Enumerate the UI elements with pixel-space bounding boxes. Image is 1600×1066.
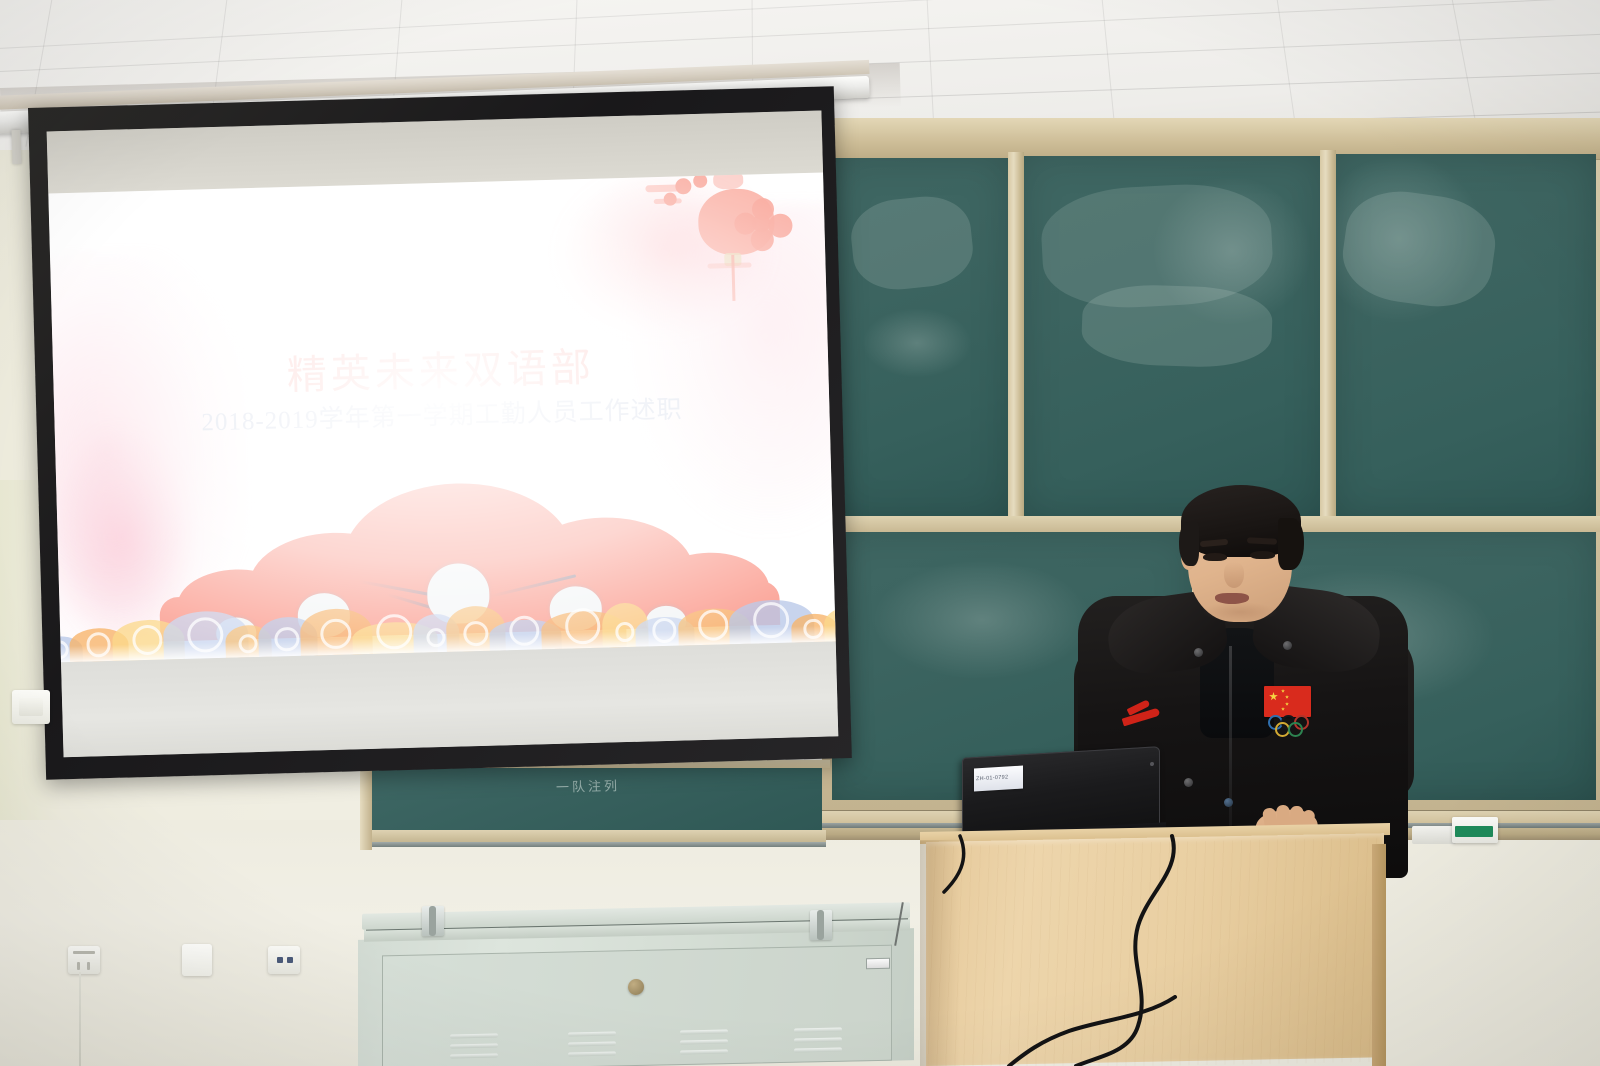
screen-surface: 精英未来双语部 2018-2019学年第一学期工勤人员工作述职 bbox=[47, 111, 839, 758]
projected-slide: 精英未来双语部 2018-2019学年第一学期工勤人员工作述职 bbox=[48, 173, 835, 663]
outlet-wire bbox=[79, 972, 81, 1066]
chalk-box[interactable] bbox=[1452, 817, 1498, 843]
chalk-writing: 一队注列 bbox=[556, 775, 620, 796]
blackboard-eraser[interactable] bbox=[1412, 826, 1456, 844]
nose bbox=[1224, 562, 1244, 588]
roller-bracket-left bbox=[11, 130, 21, 164]
blackboard-lower-left: 一队注列 bbox=[360, 760, 830, 870]
blackboard-panel bbox=[1022, 156, 1322, 518]
blackboard-panel bbox=[832, 158, 1008, 518]
blackboard-mullion bbox=[1008, 152, 1024, 522]
jacket-snap bbox=[1224, 798, 1233, 807]
jacket-snap bbox=[1184, 778, 1193, 787]
projection-screen[interactable]: 精英未来双语部 2018-2019学年第一学期工勤人员工作述职 bbox=[28, 86, 852, 780]
jacket-snap bbox=[1194, 648, 1203, 657]
podium-right-edge bbox=[1372, 844, 1386, 1066]
slide-floral-decoration bbox=[601, 173, 806, 356]
hair-side-right bbox=[1278, 518, 1304, 570]
anta-logo-icon bbox=[1122, 702, 1162, 726]
olympic-rings-icon bbox=[1268, 715, 1320, 735]
eye-right bbox=[1250, 551, 1275, 559]
cabinet-hinge-pin bbox=[817, 910, 824, 940]
classroom-scene: Dsigne bbox=[0, 0, 1600, 1066]
floor-cable bbox=[1005, 995, 1205, 1066]
cabinet-label bbox=[866, 958, 890, 970]
equipment-cabinet[interactable] bbox=[358, 898, 918, 1066]
jacket-snap bbox=[1283, 641, 1292, 650]
cabinet-hinge-pin bbox=[429, 906, 436, 936]
blackboard-panel bbox=[1334, 154, 1596, 518]
blackboard-mullion bbox=[1320, 150, 1336, 522]
eye-left bbox=[1203, 553, 1227, 561]
data-jack[interactable] bbox=[268, 946, 300, 974]
blank-wall-plate bbox=[182, 944, 212, 976]
china-flag-patch bbox=[1264, 686, 1311, 717]
light-switch[interactable] bbox=[12, 690, 50, 724]
power-outlet[interactable] bbox=[68, 946, 100, 974]
hair-side-left bbox=[1179, 522, 1199, 566]
chin-shadow bbox=[1202, 602, 1278, 622]
chalk-box-label bbox=[1455, 826, 1493, 837]
